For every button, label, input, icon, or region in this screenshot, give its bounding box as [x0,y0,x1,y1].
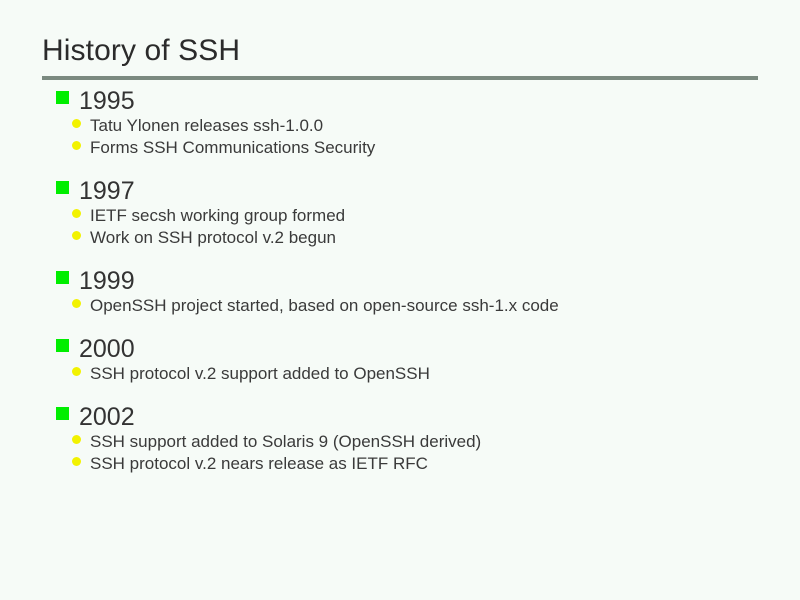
year-group: 1999 OpenSSH project started, based on o… [0,267,800,317]
list-item: Forms SSH Communications Security [0,137,800,159]
year-group: 1997 IETF secsh working group formed Wor… [0,177,800,249]
list-item: Tatu Ylonen releases ssh-1.0.0 [0,115,800,137]
slide-body-content: 1995 Tatu Ylonen releases ssh-1.0.0 Form… [0,87,800,475]
green-square-bullet-icon [56,91,69,104]
green-square-bullet-icon [56,181,69,194]
list-item-label: Forms SSH Communications Security [90,137,375,159]
list-item: Work on SSH protocol v.2 begun [0,227,800,249]
yellow-dot-bullet-icon [72,141,81,150]
year-label: 1999 [79,267,135,295]
list-item: SSH support added to Solaris 9 (OpenSSH … [0,431,800,453]
list-item-label: SSH protocol v.2 nears release as IETF R… [90,453,428,475]
list-item: IETF secsh working group formed [0,205,800,227]
list-item: SSH protocol v.2 support added to OpenSS… [0,363,800,385]
yellow-dot-bullet-icon [72,231,81,240]
year-heading-row: 2000 [0,335,800,363]
yellow-dot-bullet-icon [72,457,81,466]
year-group: 2002 SSH support added to Solaris 9 (Ope… [0,403,800,475]
green-square-bullet-icon [56,407,69,420]
yellow-dot-bullet-icon [72,119,81,128]
green-square-bullet-icon [56,271,69,284]
green-square-bullet-icon [56,339,69,352]
year-group: 2000 SSH protocol v.2 support added to O… [0,335,800,385]
page-title: History of SSH [42,33,758,69]
year-label: 2002 [79,403,135,431]
year-sub-list: SSH protocol v.2 support added to OpenSS… [0,363,800,385]
year-group: 1995 Tatu Ylonen releases ssh-1.0.0 Form… [0,87,800,159]
year-heading-row: 1997 [0,177,800,205]
title-divider-rule [42,76,758,80]
list-item-label: SSH protocol v.2 support added to OpenSS… [90,363,430,385]
year-label: 2000 [79,335,135,363]
year-heading-row: 1999 [0,267,800,295]
year-sub-list: OpenSSH project started, based on open-s… [0,295,800,317]
year-heading-row: 1995 [0,87,800,115]
list-item: OpenSSH project started, based on open-s… [0,295,800,317]
year-label: 1995 [79,87,135,115]
list-item-label: Work on SSH protocol v.2 begun [90,227,336,249]
year-sub-list: SSH support added to Solaris 9 (OpenSSH … [0,431,800,475]
list-item-label: IETF secsh working group formed [90,205,345,227]
presentation-slide: History of SSH 1995 Tatu Ylonen releases… [0,0,800,600]
year-label: 1997 [79,177,135,205]
slide-title-block: History of SSH [42,33,758,69]
list-item: SSH protocol v.2 nears release as IETF R… [0,453,800,475]
list-item-label: Tatu Ylonen releases ssh-1.0.0 [90,115,323,137]
yellow-dot-bullet-icon [72,299,81,308]
year-sub-list: Tatu Ylonen releases ssh-1.0.0 Forms SSH… [0,115,800,159]
year-sub-list: IETF secsh working group formed Work on … [0,205,800,249]
year-heading-row: 2002 [0,403,800,431]
list-item-label: SSH support added to Solaris 9 (OpenSSH … [90,431,481,453]
yellow-dot-bullet-icon [72,367,81,376]
yellow-dot-bullet-icon [72,435,81,444]
list-item-label: OpenSSH project started, based on open-s… [90,295,559,317]
yellow-dot-bullet-icon [72,209,81,218]
